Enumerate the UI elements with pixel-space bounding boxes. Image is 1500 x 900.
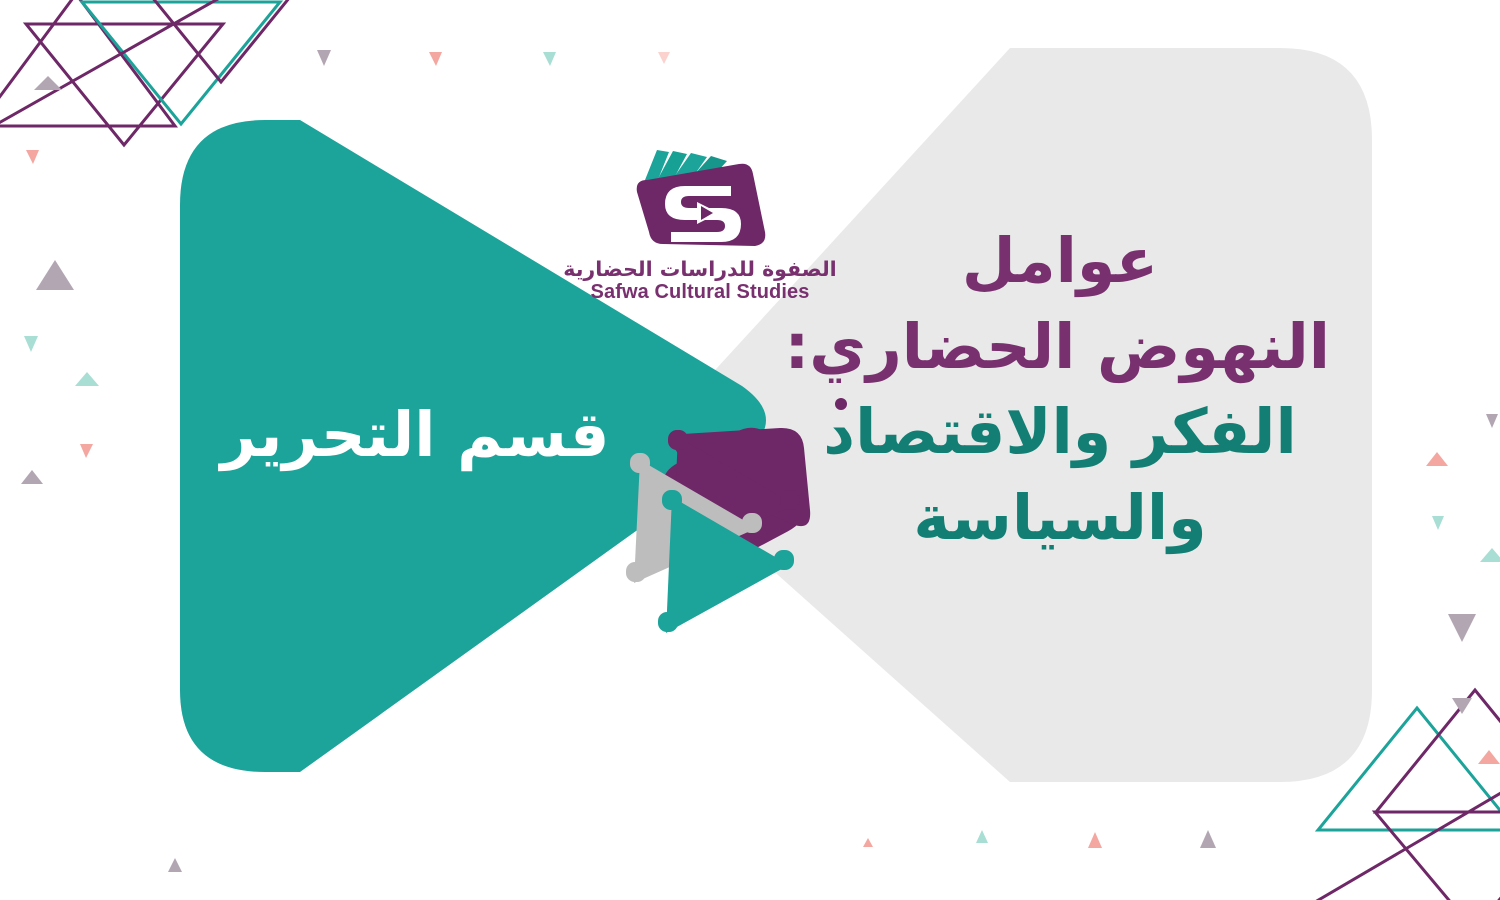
gray-play-rounding-3	[626, 562, 646, 582]
teal-play-rounding-3	[658, 612, 678, 632]
title-line-4: والسياسة	[790, 475, 1330, 561]
safwa-logo-icon	[613, 146, 788, 256]
teal-play-rounding	[662, 490, 682, 510]
title-line-2: النهوض الحضاري:	[790, 304, 1330, 390]
title-line-3: الفكر والاقتصاد	[790, 389, 1330, 475]
department-label: قسم التحرير	[180, 398, 650, 472]
gray-play-rounding-2	[742, 513, 762, 533]
poster-title: عوامل النهوض الحضاري: الفكر والاقتصاد وا…	[790, 218, 1330, 560]
poster-canvas: الصفوة للدراسات الحضارية Safwa Cultural …	[0, 0, 1500, 900]
purple-play-rounding	[668, 430, 688, 450]
brand-name-ar: الصفوة للدراسات الحضارية	[560, 258, 840, 281]
brand-name-en: Safwa Cultural Studies	[560, 281, 840, 303]
brand-logo: الصفوة للدراسات الحضارية Safwa Cultural …	[560, 146, 840, 306]
title-line-1: عوامل	[790, 218, 1330, 304]
